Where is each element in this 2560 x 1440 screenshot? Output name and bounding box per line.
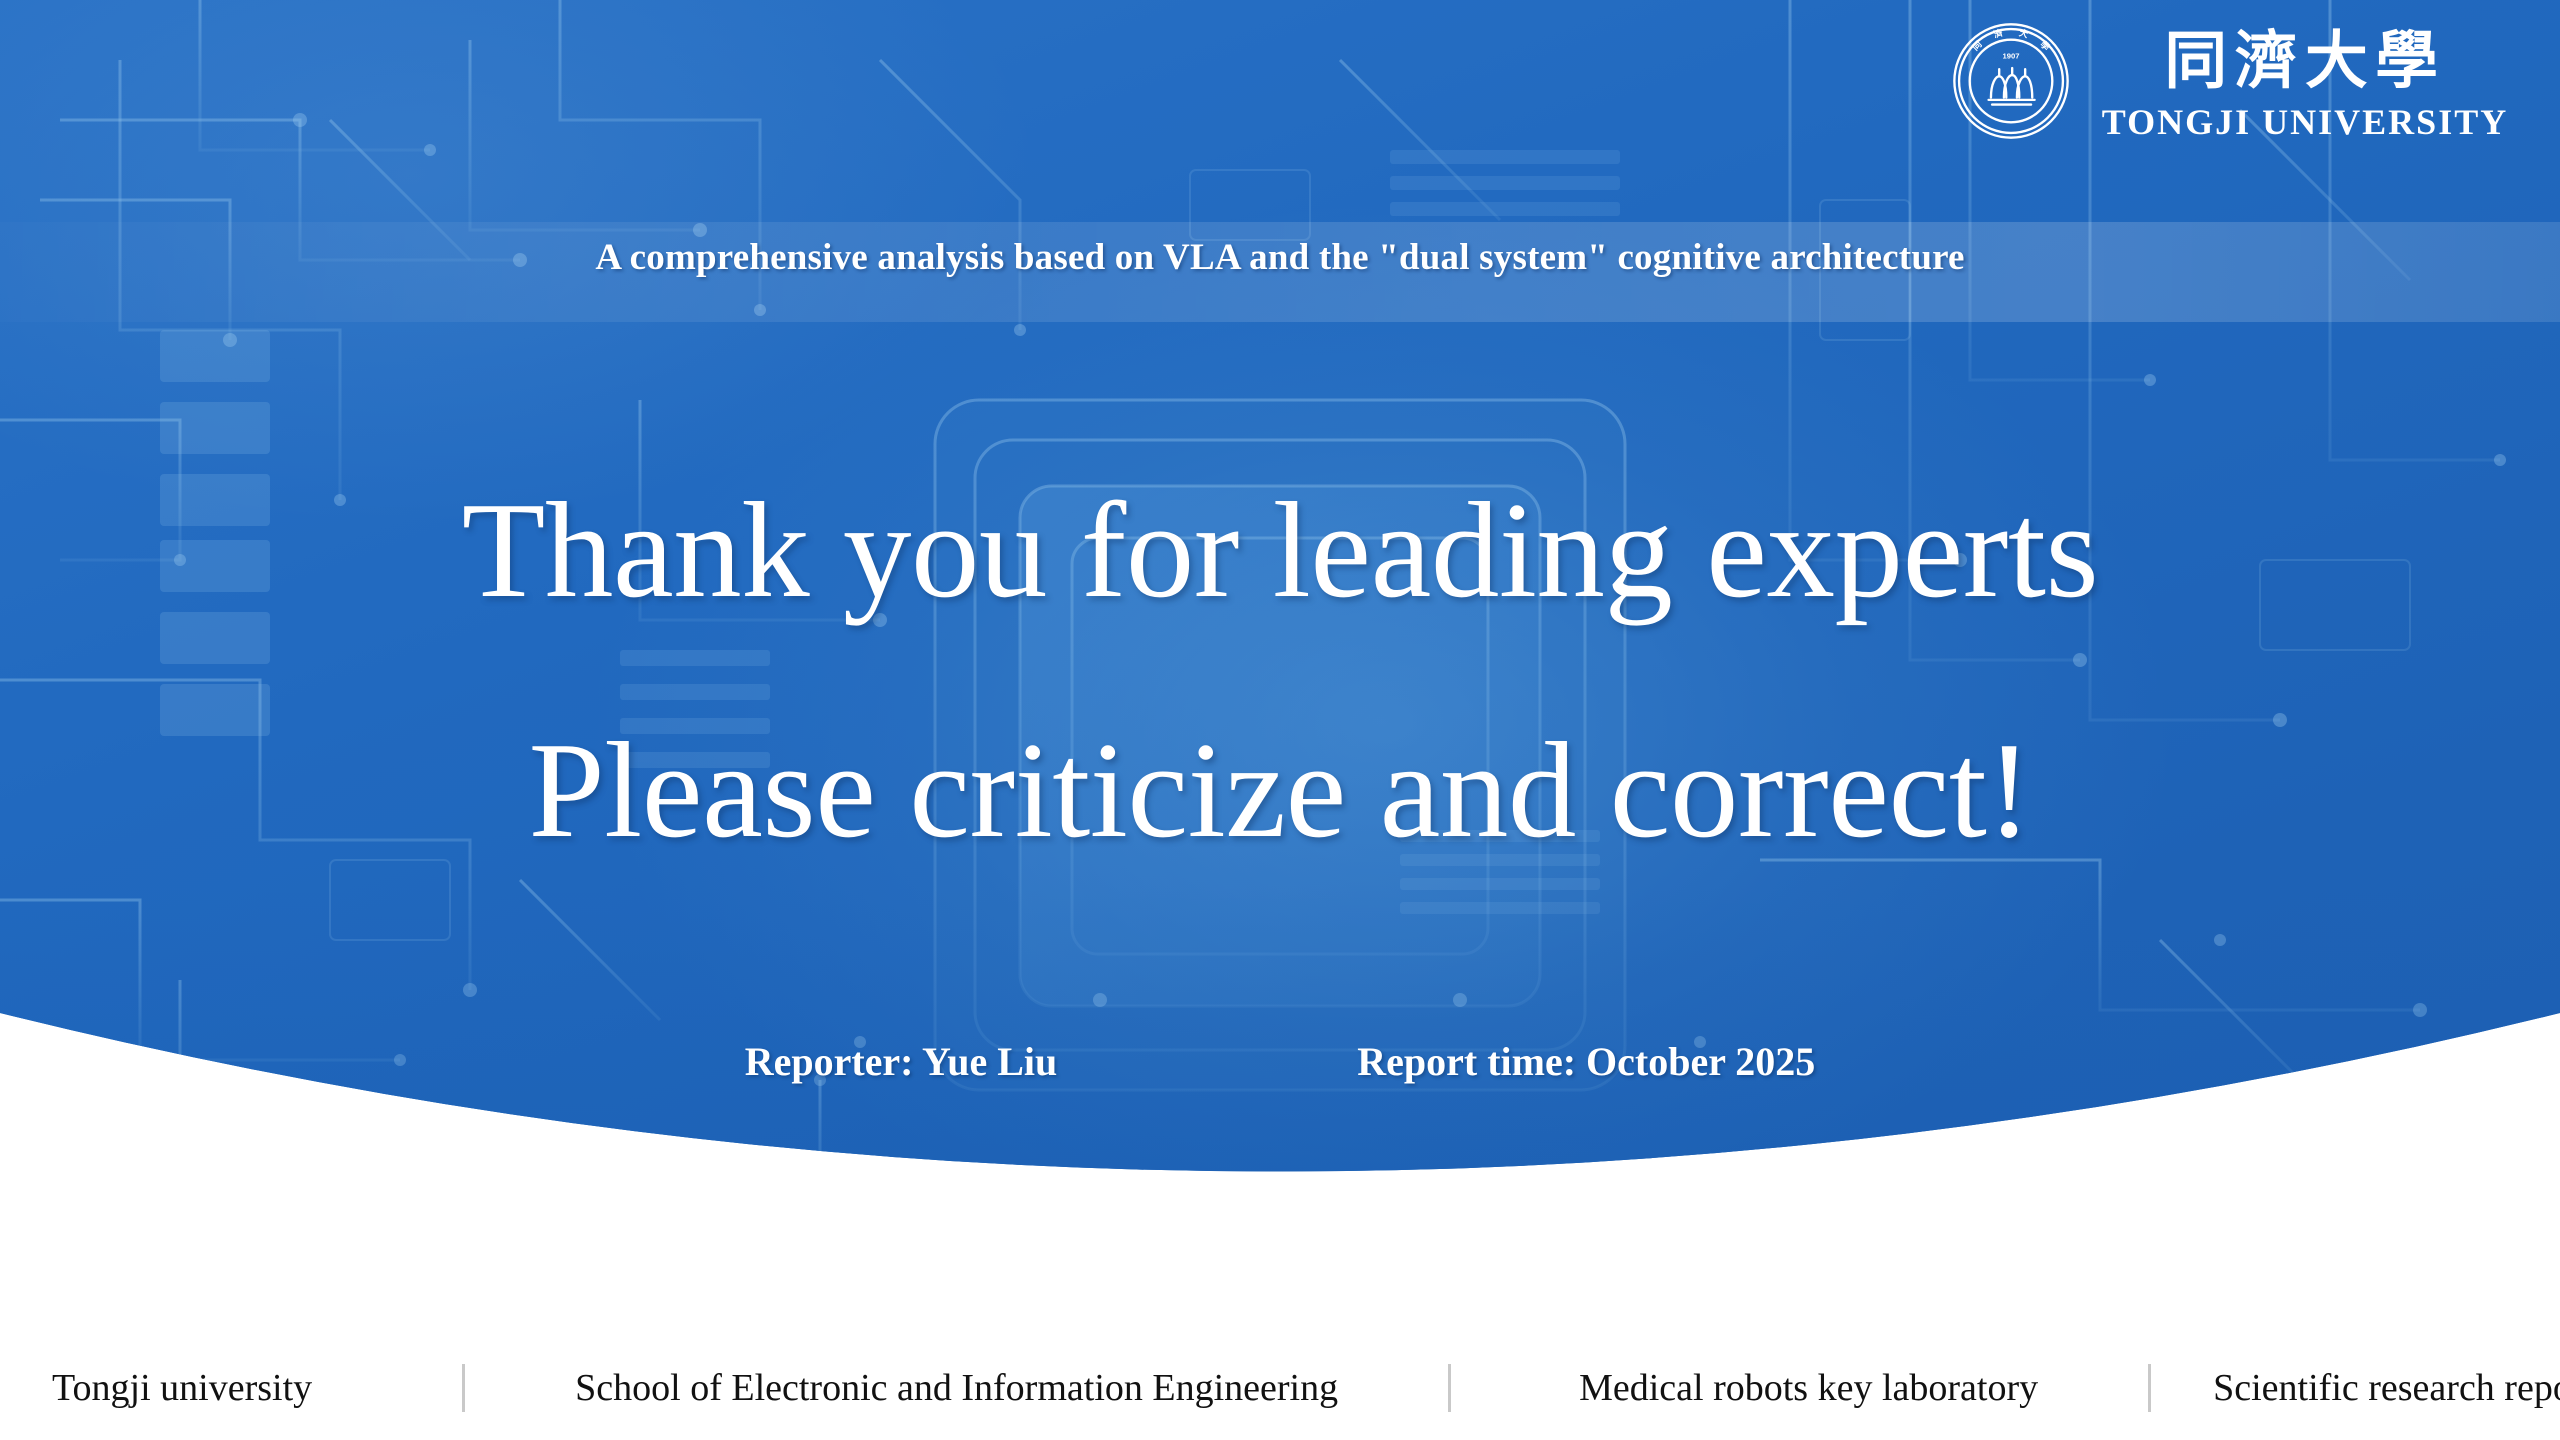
title-line-2: Please criticize and correct! — [0, 670, 2560, 910]
slide-subtitle: A comprehensive analysis based on VLA an… — [0, 236, 2560, 279]
footer-item-laboratory: Medical robots key laboratory — [1451, 1366, 2148, 1410]
svg-text:濟: 濟 — [1992, 27, 2004, 40]
seal-year: 1907 — [2002, 52, 2019, 61]
footer-item-report-type: Scientific research report — [2151, 1366, 2560, 1410]
footer-item-university: Tongji university — [52, 1366, 312, 1410]
logo-english-name: TONGJI UNIVERSITY — [2102, 104, 2508, 140]
report-time-label: Report time: October 2025 — [1357, 1038, 1815, 1085]
tongji-university-logo: 同 濟 大 學 T O N G J I U N I V E — [1952, 22, 2514, 140]
logo-chinese-characters-icon: 同濟大學 — [2096, 22, 2514, 98]
footer-bar: Tongji university School of Electronic a… — [0, 1336, 2560, 1440]
reporter-label: Reporter: Yue Liu — [745, 1038, 1058, 1085]
svg-text:大: 大 — [2018, 27, 2030, 40]
logo-wordmark: 同濟大學 TONGJI UNIVERSITY — [2096, 22, 2514, 140]
title-line-1: Thank you for leading experts — [0, 430, 2560, 670]
tongji-seal-icon: 同 濟 大 學 T O N G J I U N I V E — [1952, 22, 2070, 140]
slide-title: Thank you for leading experts Please cri… — [0, 430, 2560, 910]
report-meta: Reporter: Yue Liu Report time: October 2… — [0, 1038, 2560, 1085]
closing-slide: 同 濟 大 學 T O N G J I U N I V E — [0, 0, 2560, 1440]
footer-item-school: School of Electronic and Information Eng… — [465, 1366, 1448, 1410]
logo-cn-text: 同濟大學 — [2164, 24, 2445, 97]
hero-panel: 同 濟 大 學 T O N G J I U N I V E — [0, 0, 2560, 1245]
